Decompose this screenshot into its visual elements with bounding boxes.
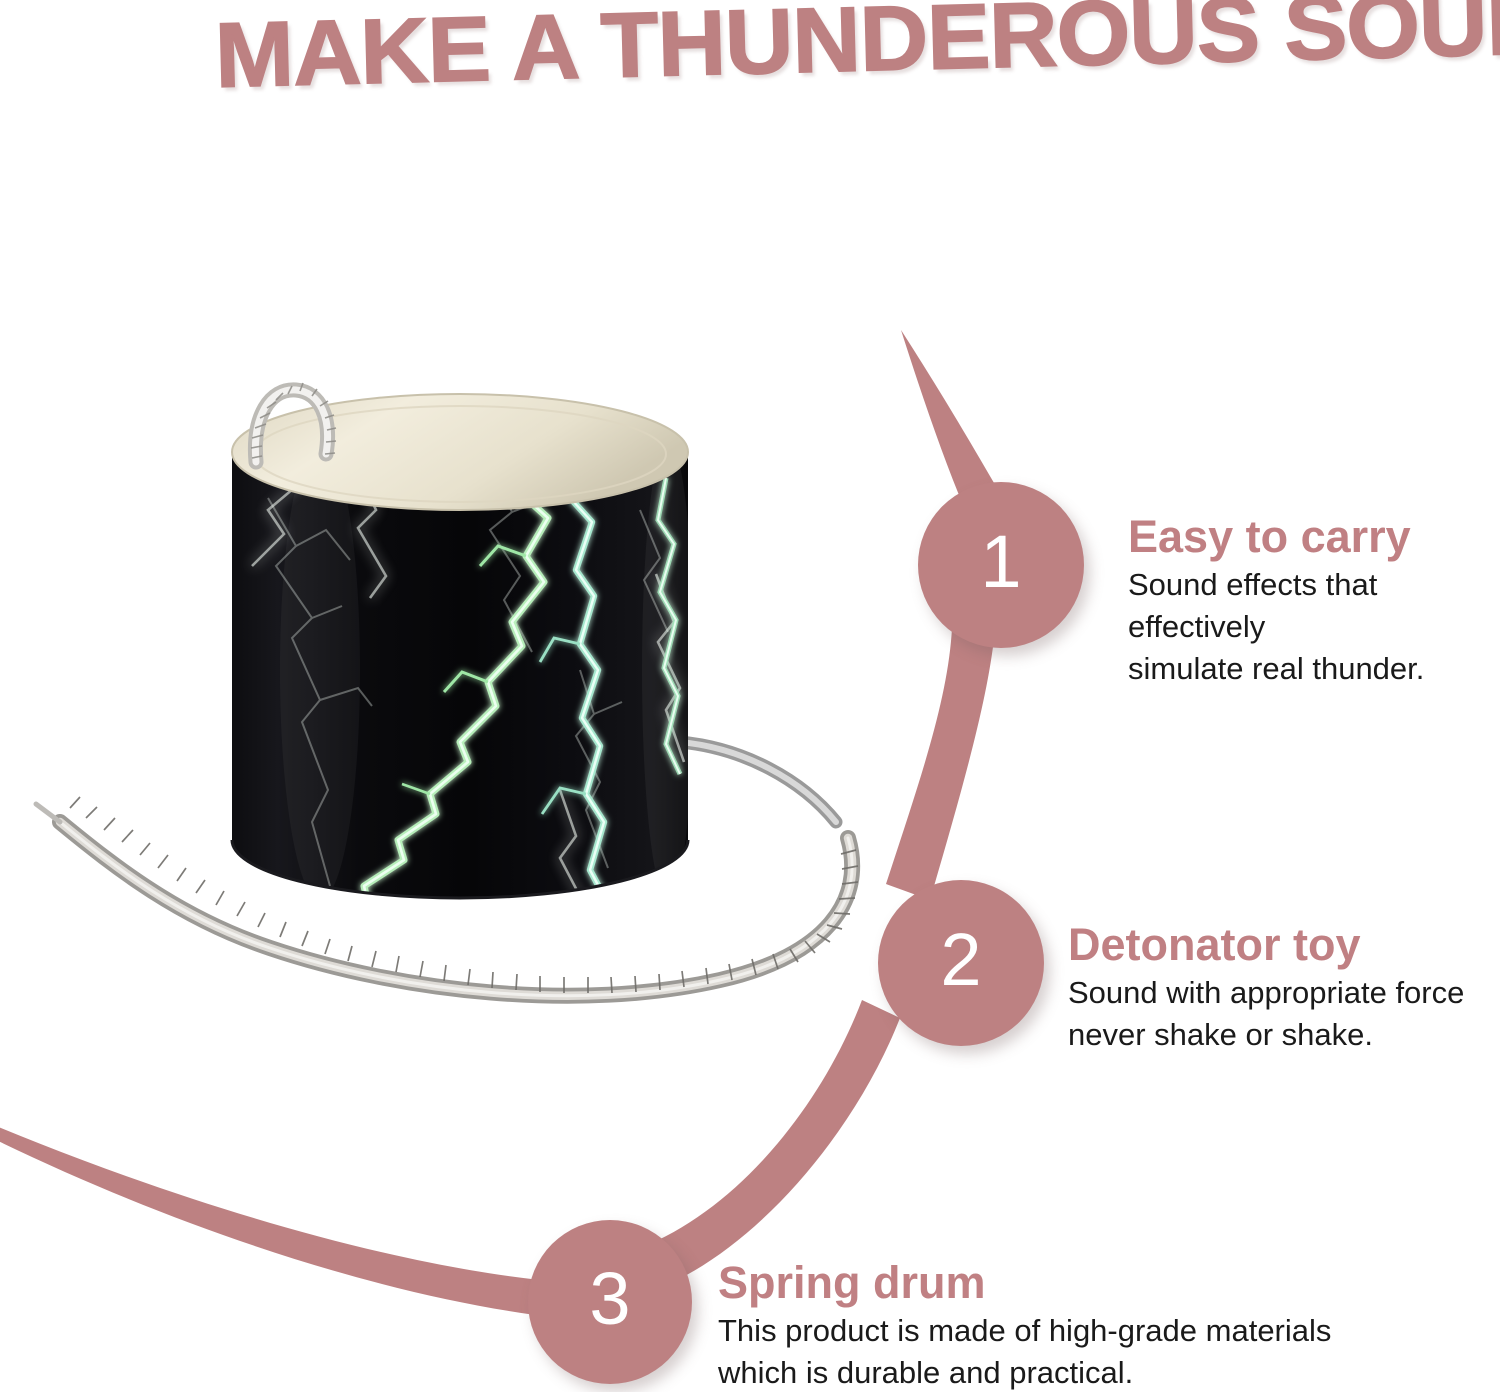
callout-3-body-line-1: This product is made of high-grade mater…	[718, 1310, 1331, 1352]
callout-number-2-label: 2	[940, 923, 981, 997]
callout-1-body-line-2: simulate real thunder.	[1128, 648, 1500, 690]
callout-1: Easy to carry Sound effects that effecti…	[1128, 512, 1500, 690]
callout-2-body-line-2: never shake or shake.	[1068, 1014, 1464, 1056]
callout-2: Detonator toy Sound with appropriate for…	[1068, 920, 1464, 1056]
connector-tail-left	[0, 1126, 560, 1318]
callout-3: Spring drum This product is made of high…	[718, 1258, 1331, 1392]
callout-number-3-label: 3	[589, 1262, 630, 1336]
callout-2-body-line-1: Sound with appropriate force	[1068, 972, 1464, 1014]
callout-2-title: Detonator toy	[1068, 920, 1464, 970]
callout-3-body-line-2: which is durable and practical.	[718, 1352, 1331, 1392]
callout-1-title: Easy to carry	[1128, 512, 1500, 562]
callout-number-1-label: 1	[980, 525, 1021, 599]
connector-lines	[0, 0, 1500, 1392]
callout-3-title: Spring drum	[718, 1258, 1331, 1308]
connector-2-to-3	[640, 1000, 900, 1288]
callout-number-1: 1	[918, 482, 1084, 648]
connector-1-to-2	[886, 628, 995, 900]
callout-1-body-line-1: Sound effects that effectively	[1128, 564, 1500, 648]
callout-number-3: 3	[528, 1220, 692, 1384]
infographic-page: MAKE A THUNDEROUS SOUND	[0, 0, 1500, 1392]
callout-number-2: 2	[878, 880, 1044, 1046]
